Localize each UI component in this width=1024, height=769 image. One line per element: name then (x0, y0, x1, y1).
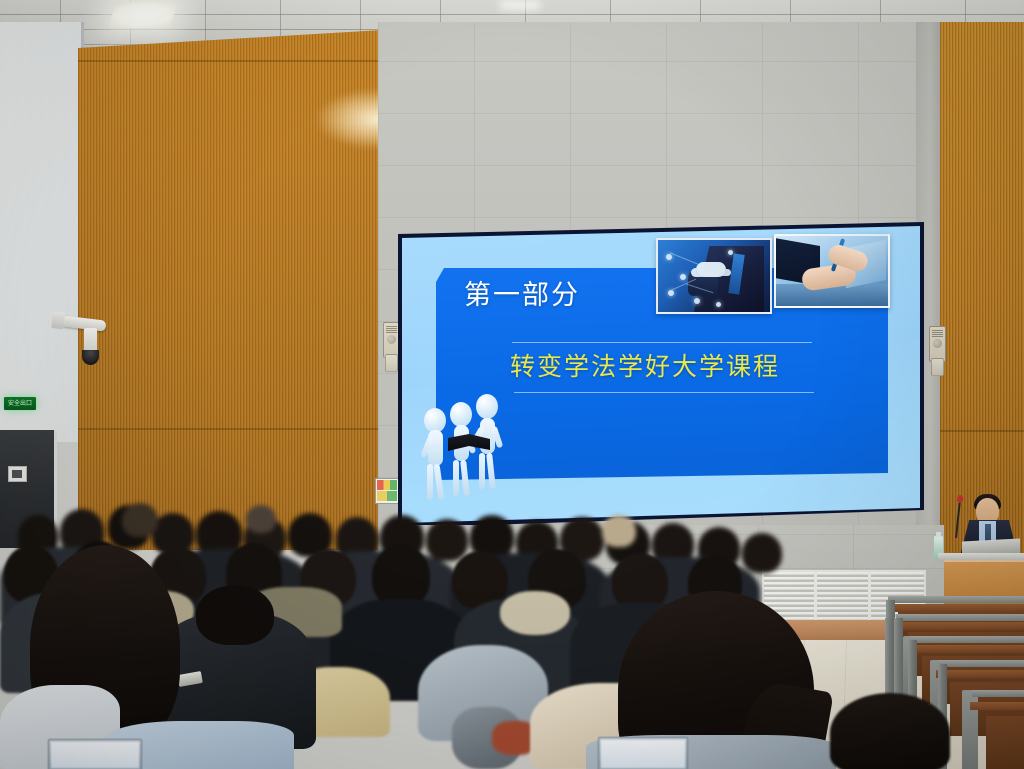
student-laptop-right[interactable] (598, 737, 688, 769)
audience (0, 495, 1024, 769)
wall-speaker-left-icon (383, 322, 400, 358)
slide-topic-title: 转变学法学好大学课程 (510, 354, 780, 379)
exit-sign-label: 安全出口 (8, 401, 32, 407)
wall-speaker-right-base (931, 358, 944, 376)
exit-sign: 安全出口 (4, 397, 36, 410)
lecture-hall-photo: 安全出口 第一部分 转变学法学好大学课程 (0, 0, 1024, 769)
slide-rule-bottom (514, 392, 814, 393)
three-3d-figures-reading-book (418, 382, 522, 498)
student-right-hair (830, 693, 950, 769)
wood-panel-wall (78, 30, 382, 550)
projection-screen[interactable]: 第一部分 转变学法学好大学课程 (402, 226, 920, 523)
left-white-wall (0, 22, 84, 442)
door-sign (8, 466, 27, 482)
student-head (196, 585, 274, 645)
wall-speaker-left-base (385, 354, 398, 372)
slide-rule-top (512, 342, 812, 343)
wall-speaker-right-icon (929, 326, 946, 362)
student-laptop-left[interactable] (48, 739, 142, 769)
ceiling-light-glow (500, 0, 540, 10)
ceiling-light-panel (108, 2, 177, 28)
hands-pen-document-photo (774, 234, 890, 308)
businessman-cloud-network-photo (656, 238, 772, 314)
right-wood-panel-wall (940, 22, 1024, 567)
slide-section-label: 第一部分 (464, 282, 580, 309)
